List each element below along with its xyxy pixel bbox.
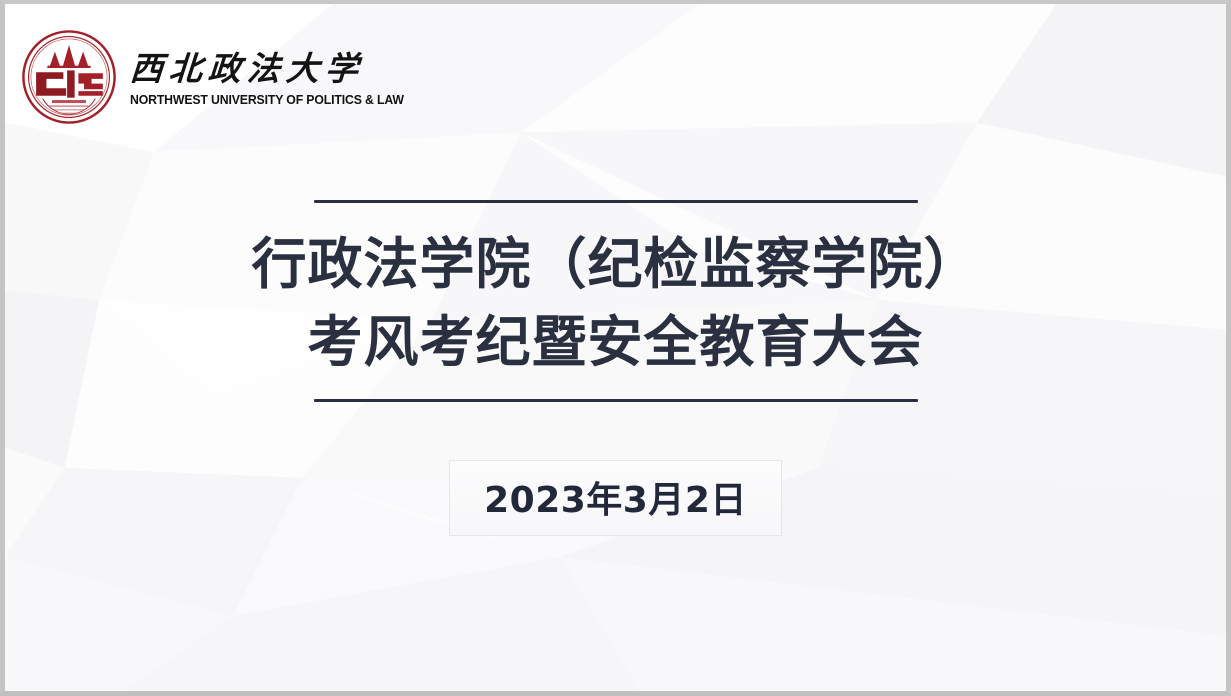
- university-emblem-icon: [22, 30, 116, 124]
- presentation-slide: 西北政法大学 NORTHWEST UNIVERSITY OF POLITICS …: [0, 0, 1231, 696]
- slide-title: 行政法学院（纪检监察学院） 考风考纪暨安全教育大会: [251, 233, 979, 375]
- divider-bottom: [314, 399, 918, 402]
- slide-center-block: 行政法学院（纪检监察学院） 考风考纪暨安全教育大会 2023年3月2日: [5, 200, 1226, 536]
- slide-date-badge: 2023年3月2日: [449, 460, 782, 536]
- divider-top: [314, 200, 918, 203]
- title-line-1: 行政法学院（纪检监察学院）: [251, 233, 979, 297]
- university-name-block: 西北政法大学 NORTHWEST UNIVERSITY OF POLITICS …: [130, 47, 424, 107]
- university-name-chinese: 西北政法大学: [129, 51, 426, 88]
- university-name-english: NORTHWEST UNIVERSITY OF POLITICS & LAW: [130, 92, 404, 107]
- slide-canvas: 西北政法大学 NORTHWEST UNIVERSITY OF POLITICS …: [5, 4, 1226, 691]
- university-logo-lockup: 西北政法大学 NORTHWEST UNIVERSITY OF POLITICS …: [22, 30, 424, 124]
- title-line-2: 考风考纪暨安全教育大会: [307, 311, 923, 375]
